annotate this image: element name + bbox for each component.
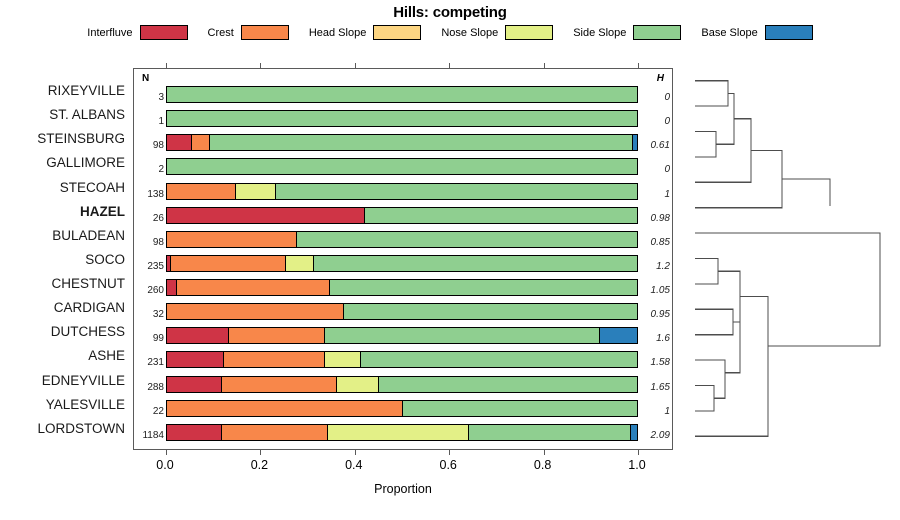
y-axis-label: EDNEYVILLE: [0, 373, 125, 388]
stacked-bar[interactable]: [166, 207, 638, 224]
y-axis-label: CARDIGAN: [0, 300, 125, 315]
row-n-value: 98: [136, 140, 164, 151]
chart-row: 991.6: [134, 324, 672, 348]
x-axis-tick: [355, 63, 356, 69]
bar-segment[interactable]: [221, 425, 327, 440]
legend-label: Nose Slope: [441, 27, 498, 39]
chart-row: 980.61: [134, 131, 672, 155]
y-axis-label: STECOAH: [0, 180, 125, 195]
legend-label: Side Slope: [573, 27, 626, 39]
bar-segment[interactable]: [468, 425, 630, 440]
bar-segment[interactable]: [191, 135, 210, 150]
bar-segment[interactable]: [228, 328, 324, 343]
y-axis-label: STEINSBURG: [0, 131, 125, 146]
y-axis-label: ASHE: [0, 348, 125, 363]
bar-segment[interactable]: [167, 280, 176, 295]
x-axis-tick-label: 1.0: [628, 458, 645, 472]
row-n-value: 138: [136, 189, 164, 200]
y-axis-label: YALESVILLE: [0, 397, 125, 412]
row-h-value: 1: [640, 406, 670, 417]
bar-segment[interactable]: [167, 328, 228, 343]
row-n-value: 1: [136, 116, 164, 127]
bar-segment[interactable]: [167, 304, 343, 319]
y-axis-label: ST. ALBANS: [0, 107, 125, 122]
legend-swatch: [505, 25, 553, 40]
row-h-value: 0.98: [640, 213, 670, 224]
chart-row: 30: [134, 83, 672, 107]
row-h-value: 1.05: [640, 285, 670, 296]
stacked-bar[interactable]: [166, 183, 638, 200]
bar-segment[interactable]: [275, 184, 637, 199]
stacked-bar[interactable]: [166, 110, 638, 127]
legend-item: Interfluve: [87, 25, 187, 40]
x-axis-tick: [260, 63, 261, 69]
row-h-value: 0: [640, 116, 670, 127]
x-axis-title: Proportion: [133, 482, 673, 496]
row-h-value: 1.65: [640, 382, 670, 393]
row-h-value: 0.95: [640, 309, 670, 320]
row-h-value: 1.58: [640, 357, 670, 368]
bar-segment[interactable]: [378, 377, 637, 392]
bar-segment[interactable]: [170, 256, 285, 271]
x-axis-tick-label: 0.4: [345, 458, 362, 472]
bar-segment[interactable]: [167, 401, 402, 416]
legend-item: Crest: [208, 25, 289, 40]
bar-segment[interactable]: [167, 425, 221, 440]
legend: InterfluveCrestHead SlopeNose SlopeSide …: [0, 25, 900, 40]
bar-segment[interactable]: [223, 352, 324, 367]
bar-segment[interactable]: [324, 352, 359, 367]
legend-item: Base Slope: [701, 25, 812, 40]
y-axis-label: HAZEL: [0, 204, 125, 219]
legend-label: Base Slope: [701, 27, 757, 39]
stacked-bar[interactable]: [166, 376, 638, 393]
row-n-value: 99: [136, 333, 164, 344]
legend-label: Interfluve: [87, 27, 132, 39]
x-axis-tick-label: 0.0: [156, 458, 173, 472]
bar-segment[interactable]: [167, 232, 296, 247]
bar-segment[interactable]: [630, 425, 637, 440]
y-axis-label: RIXEYVILLE: [0, 83, 125, 98]
bar-segment[interactable]: [167, 135, 191, 150]
x-axis-tick: [449, 63, 450, 69]
x-axis-tick-label: 0.6: [439, 458, 456, 472]
stacked-bar[interactable]: [166, 400, 638, 417]
stacked-bar[interactable]: [166, 134, 638, 151]
bar-segment[interactable]: [176, 280, 329, 295]
x-axis-tick: [544, 63, 545, 69]
x-axis-tick: [166, 63, 167, 69]
y-axis-label: BULADEAN: [0, 228, 125, 243]
row-h-value: 0: [640, 92, 670, 103]
bar-segment[interactable]: [632, 135, 637, 150]
legend-item: Side Slope: [573, 25, 681, 40]
chart-row: 2311.58: [134, 348, 672, 372]
bar-segment[interactable]: [167, 184, 235, 199]
bar-segment[interactable]: [360, 352, 637, 367]
row-n-value: 26: [136, 213, 164, 224]
x-axis-tick-label: 0.8: [534, 458, 551, 472]
bar-segment[interactable]: [209, 135, 632, 150]
chart-row: 221: [134, 397, 672, 421]
legend-item: Nose Slope: [441, 25, 553, 40]
legend-label: Crest: [208, 27, 234, 39]
y-axis-label: GALLIMORE: [0, 155, 125, 170]
legend-item: Head Slope: [309, 25, 422, 40]
legend-swatch: [241, 25, 289, 40]
bar-segment[interactable]: [336, 377, 378, 392]
row-h-value: 1.2: [640, 261, 670, 272]
plot-area: N H 3010980.61201381260.98980.852351.226…: [133, 68, 673, 450]
bar-rows: 3010980.61201381260.98980.852351.22601.0…: [134, 69, 672, 449]
row-n-value: 3: [136, 92, 164, 103]
chart-row: 320.95: [134, 300, 672, 324]
row-h-value: 2.09: [640, 430, 670, 441]
chart-row: 11842.09: [134, 421, 672, 445]
page-title: Hills: competing: [0, 4, 900, 21]
chart-row: 980.85: [134, 228, 672, 252]
row-n-value: 22: [136, 406, 164, 417]
bar-segment[interactable]: [167, 208, 364, 223]
bar-segment[interactable]: [402, 401, 637, 416]
bar-segment[interactable]: [235, 184, 275, 199]
row-h-value: 0.85: [640, 237, 670, 248]
row-n-value: 98: [136, 237, 164, 248]
bar-segment[interactable]: [327, 425, 468, 440]
stacked-bar[interactable]: [166, 327, 638, 344]
legend-swatch: [373, 25, 421, 40]
stacked-bar[interactable]: [166, 158, 638, 175]
stacked-bar[interactable]: [166, 86, 638, 103]
row-n-value: 1184: [136, 430, 164, 441]
bar-segment[interactable]: [324, 328, 599, 343]
x-axis-tick-label: 0.2: [251, 458, 268, 472]
row-n-value: 2: [136, 164, 164, 175]
row-n-value: 235: [136, 261, 164, 272]
chart-row: 2881.65: [134, 373, 672, 397]
bar-segment[interactable]: [221, 377, 336, 392]
stacked-bar[interactable]: [166, 351, 638, 368]
y-axis-label: CHESTNUT: [0, 276, 125, 291]
chart-root: Hills: competing InterfluveCrestHead Slo…: [0, 0, 900, 520]
row-h-value: 0.61: [640, 140, 670, 151]
bar-segment[interactable]: [285, 256, 313, 271]
x-axis-tick: [638, 63, 639, 69]
row-n-value: 288: [136, 382, 164, 393]
bar-segment[interactable]: [167, 111, 637, 126]
bar-segment[interactable]: [167, 377, 221, 392]
bar-segment[interactable]: [313, 256, 637, 271]
stacked-bar[interactable]: [166, 231, 638, 248]
chart-row: 260.98: [134, 204, 672, 228]
bar-segment[interactable]: [599, 328, 637, 343]
bar-segment[interactable]: [167, 352, 223, 367]
row-h-value: 1: [640, 189, 670, 200]
y-axis-label: LORDSTOWN: [0, 421, 125, 436]
stacked-bar[interactable]: [166, 279, 638, 296]
dendrogram: [690, 60, 895, 460]
bar-segment[interactable]: [364, 208, 637, 223]
row-h-value: 1.6: [640, 333, 670, 344]
chart-row: 10: [134, 107, 672, 131]
y-axis-labels: RIXEYVILLEST. ALBANSSTEINSBURGGALLIMORES…: [0, 68, 131, 450]
chart-row: 2351.2: [134, 252, 672, 276]
row-n-value: 231: [136, 357, 164, 368]
legend-swatch: [140, 25, 188, 40]
row-h-value: 0: [640, 164, 670, 175]
bar-segment[interactable]: [167, 87, 637, 102]
bar-segment[interactable]: [296, 232, 637, 247]
bar-segment[interactable]: [167, 159, 637, 174]
dendrogram-svg: [690, 60, 895, 460]
row-n-value: 260: [136, 285, 164, 296]
bar-segment[interactable]: [329, 280, 637, 295]
legend-swatch: [765, 25, 813, 40]
chart-row: 1381: [134, 180, 672, 204]
y-axis-label: DUTCHESS: [0, 324, 125, 339]
bar-segment[interactable]: [343, 304, 637, 319]
stacked-bar[interactable]: [166, 303, 638, 320]
y-axis-label: SOCO: [0, 252, 125, 267]
stacked-bar[interactable]: [166, 255, 638, 272]
legend-swatch: [633, 25, 681, 40]
chart-row: 2601.05: [134, 276, 672, 300]
stacked-bar[interactable]: [166, 424, 638, 441]
legend-label: Head Slope: [309, 27, 367, 39]
row-n-value: 32: [136, 309, 164, 320]
chart-row: 20: [134, 155, 672, 179]
